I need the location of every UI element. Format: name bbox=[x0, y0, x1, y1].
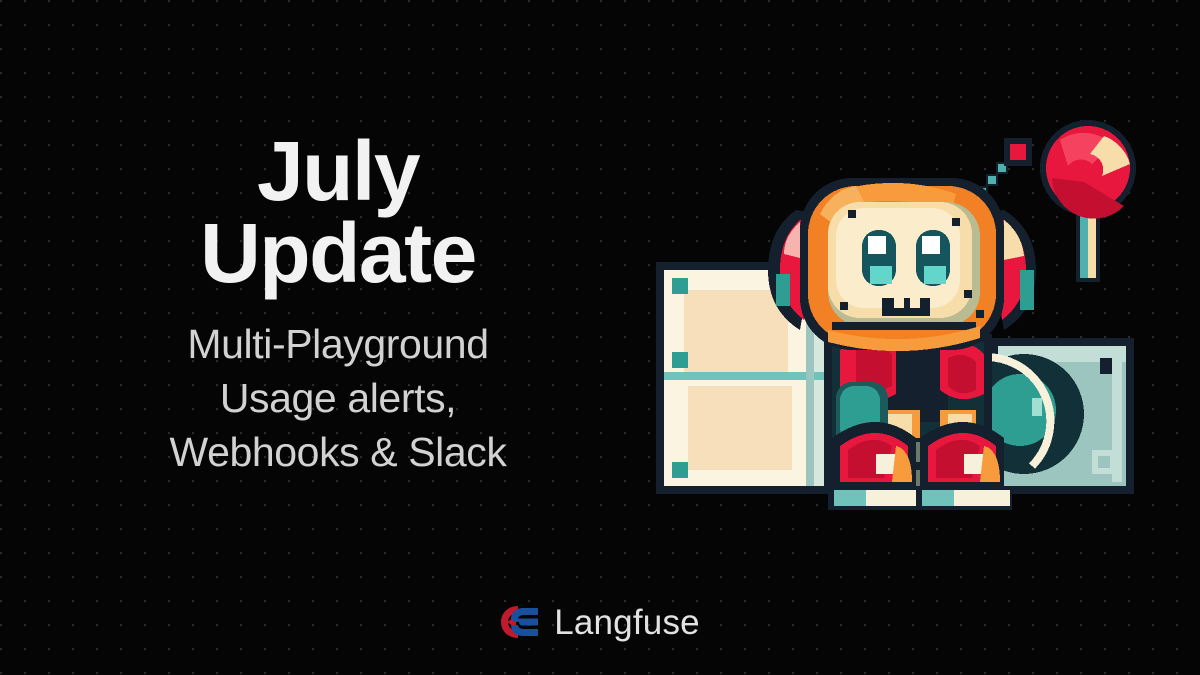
langfuse-logo-icon bbox=[500, 604, 540, 640]
brand-lockup: Langfuse bbox=[0, 604, 1200, 640]
pixel-robot-mascot-illustration bbox=[648, 118, 1152, 522]
promo-card: July Update Multi-Playground Usage alert… bbox=[0, 0, 1200, 675]
balloon bbox=[1040, 120, 1136, 282]
text-column: July Update Multi-Playground Usage alert… bbox=[60, 130, 616, 479]
page-subtitle: Multi-Playground Usage alerts, Webhooks … bbox=[60, 317, 616, 479]
page-title: July Update bbox=[60, 130, 616, 295]
robot-head bbox=[800, 178, 1004, 351]
brand-name: Langfuse bbox=[554, 605, 700, 640]
